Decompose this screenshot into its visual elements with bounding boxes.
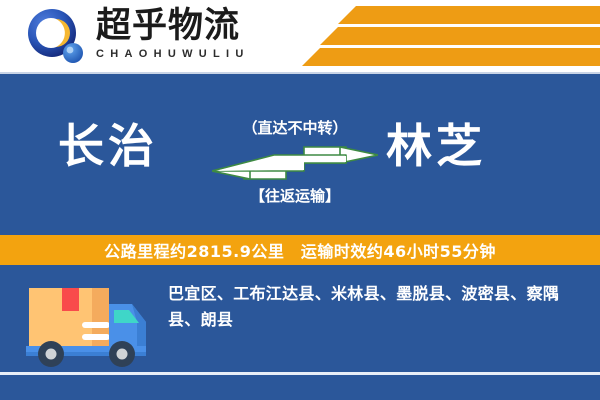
brand-name-cn: 超乎物流 [96, 6, 296, 46]
logistics-route-poster: 超乎物流 CHAOHUWULIU 长治 （直达不中转） [0, 0, 600, 400]
brand-name-en: CHAOHUWULIU [96, 48, 296, 60]
bidirectional-arrow-icon [212, 146, 378, 180]
route-stats-bar: 公路里程约2815.9公里 运输时效约46小时55分钟 [0, 235, 600, 265]
route-panel: 长治 （直达不中转） 【往返运输】 林芝 [0, 72, 600, 235]
round-trip-note: 【往返运输】 [215, 185, 375, 206]
bottom-divider [0, 372, 600, 375]
chaohu-circle-logo-icon [26, 8, 86, 66]
brand-block: 超乎物流 CHAOHUWULIU [96, 6, 296, 60]
delivery-truck-icon [24, 278, 150, 371]
direct-service-note: （直达不中转） [215, 117, 375, 138]
coverage-panel: 巴宜区、工布江达县、米林县、墨脱县、波密县、察隅县、朗县 [0, 265, 600, 400]
origin-city: 长治 [58, 120, 158, 172]
orange-speed-stripes-icon [300, 0, 600, 72]
poster-header: 超乎物流 CHAOHUWULIU [0, 0, 600, 72]
coverage-areas-text: 巴宜区、工布江达县、米林县、墨脱县、波密县、察隅县、朗县 [168, 281, 584, 333]
route-stats-text: 公路里程约2815.9公里 运输时效约46小时55分钟 [104, 238, 496, 262]
destination-city: 林芝 [386, 120, 486, 172]
panel-top-divider [0, 72, 600, 74]
